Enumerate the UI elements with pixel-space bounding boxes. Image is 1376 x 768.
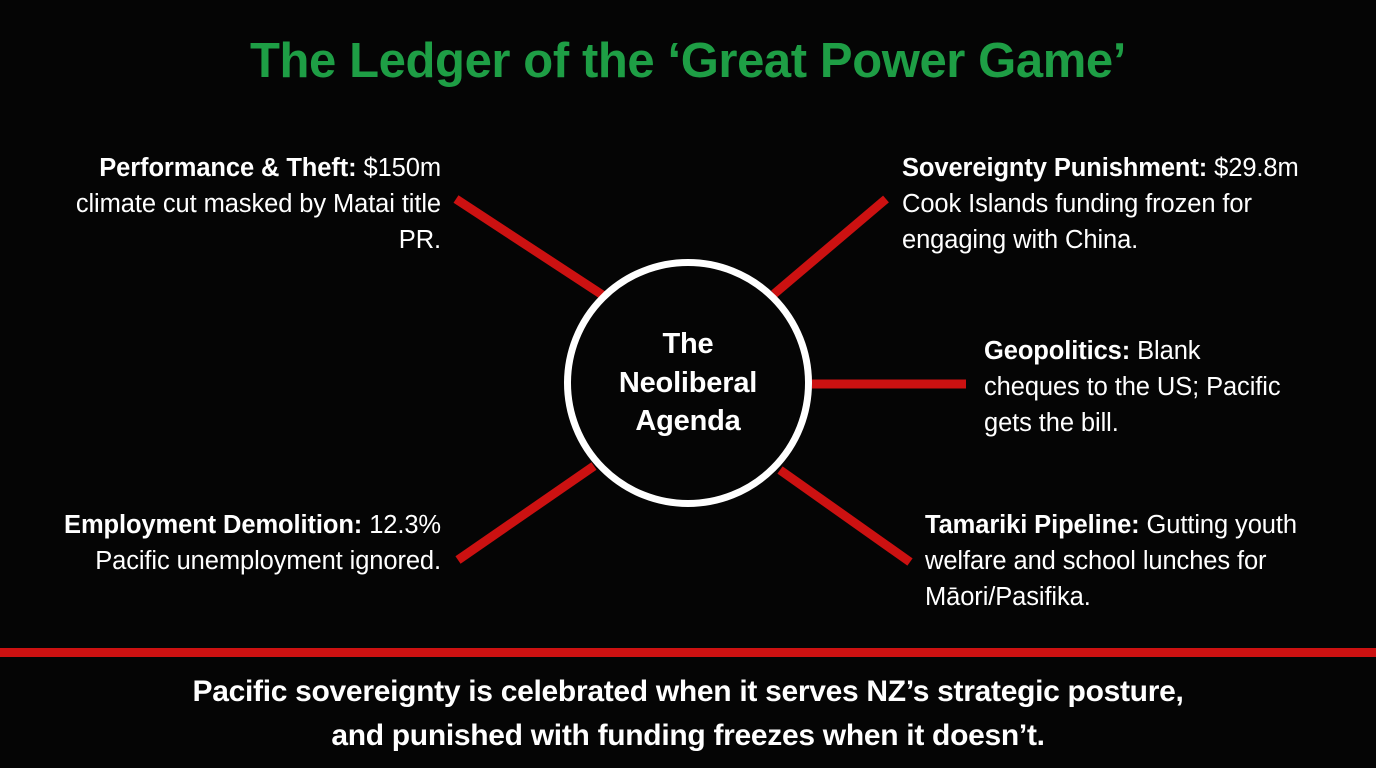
node-sovereignty-lead: Sovereignty Punishment: (902, 154, 1207, 182)
node-performance: Performance & Theft: $150m climate cut m… (60, 150, 441, 259)
hub-circle: The Neoliberal Agenda (564, 259, 812, 507)
footer-caption-line-2: and punished with funding freezes when i… (331, 719, 1044, 752)
footer-caption: Pacific sovereignty is celebrated when i… (48, 670, 1328, 757)
node-employment: Employment Demolition: 12.3% Pacific une… (60, 507, 441, 579)
footer-caption-line-1: Pacific sovereignty is celebrated when i… (192, 675, 1183, 708)
node-sovereignty: Sovereignty Punishment: $29.8m Cook Isla… (902, 150, 1354, 259)
infographic-slide: The Ledger of the ‘Great Power Game’ The… (0, 0, 1376, 768)
hub-label-line-3: Agenda (635, 405, 740, 437)
connector-line-sovereignty (774, 199, 886, 294)
connector-line-employment (458, 466, 594, 560)
hub-label-line-1: The (663, 328, 714, 360)
hub-label: The Neoliberal Agenda (619, 325, 757, 441)
node-performance-lead: Performance & Theft: (99, 154, 356, 182)
node-tamariki-lead: Tamariki Pipeline: (925, 511, 1140, 539)
node-geopolitics: Geopolitics: Blank cheques to the US; Pa… (984, 333, 1284, 442)
node-employment-lead: Employment Demolition: (64, 511, 362, 539)
hub-label-line-2: Neoliberal (619, 367, 757, 399)
node-tamariki: Tamariki Pipeline: Gutting youth welfare… (925, 507, 1317, 616)
connector-line-tamariki (780, 470, 910, 562)
node-geopolitics-lead: Geopolitics: (984, 337, 1130, 365)
connector-line-performance (456, 199, 604, 296)
footer-divider (0, 648, 1376, 657)
